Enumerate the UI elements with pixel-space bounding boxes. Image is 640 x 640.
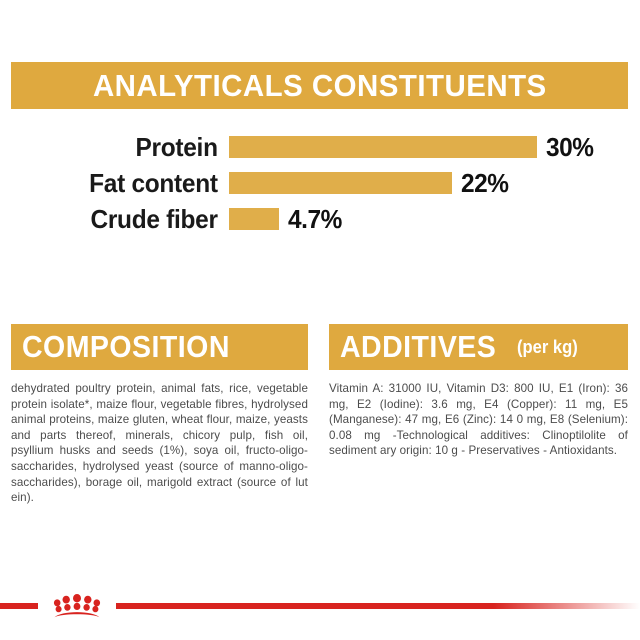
additives-header: ADDITIVES (per kg)	[329, 324, 628, 370]
composition-header: COMPOSITION	[11, 324, 308, 370]
bar-value-crude-fiber: 4.7%	[288, 204, 342, 235]
additives-title: ADDITIVES	[340, 329, 496, 365]
crown-icon	[44, 594, 110, 618]
bar-track: 22%	[229, 168, 631, 199]
bar-label-crude-fiber: Crude fiber	[24, 204, 229, 235]
bar-label-protein: Protein	[24, 132, 229, 163]
analyticals-constituents-header: ANALYTICALS CONSTITUENTS	[11, 62, 628, 109]
additives-subtitle: (per kg)	[517, 337, 578, 358]
composition-title: COMPOSITION	[22, 329, 230, 365]
bar-value-fat-content: 22%	[461, 168, 509, 199]
composition-panel: COMPOSITION dehydrated poultry protein, …	[11, 324, 308, 506]
bar-track: 4.7%	[229, 204, 631, 235]
footer-rule-right	[116, 603, 640, 609]
analyticals-bar-chart: Protein 30% Fat content 22% Crude fiber …	[11, 129, 631, 239]
bar-protein	[229, 136, 537, 158]
brand-footer	[0, 594, 640, 618]
footer-rule-left	[0, 603, 38, 609]
composition-body-text: dehydrated poultry protein, animal fats,…	[11, 381, 308, 506]
bar-label-fat-content: Fat content	[24, 168, 229, 199]
chart-row: Crude fiber 4.7%	[11, 201, 631, 237]
additives-body-text: Vitamin A: 31000 IU, Vitamin D3: 800 IU,…	[329, 381, 628, 459]
bar-fat-content	[229, 172, 452, 194]
chart-row: Fat content 22%	[11, 165, 631, 201]
bar-track: 30%	[229, 132, 631, 163]
chart-row: Protein 30%	[11, 129, 631, 165]
bar-value-protein: 30%	[546, 132, 594, 163]
additives-panel: ADDITIVES (per kg) Vitamin A: 31000 IU, …	[329, 324, 628, 459]
analyticals-constituents-title: ANALYTICALS CONSTITUENTS	[93, 68, 547, 104]
bar-crude-fiber	[229, 208, 279, 230]
